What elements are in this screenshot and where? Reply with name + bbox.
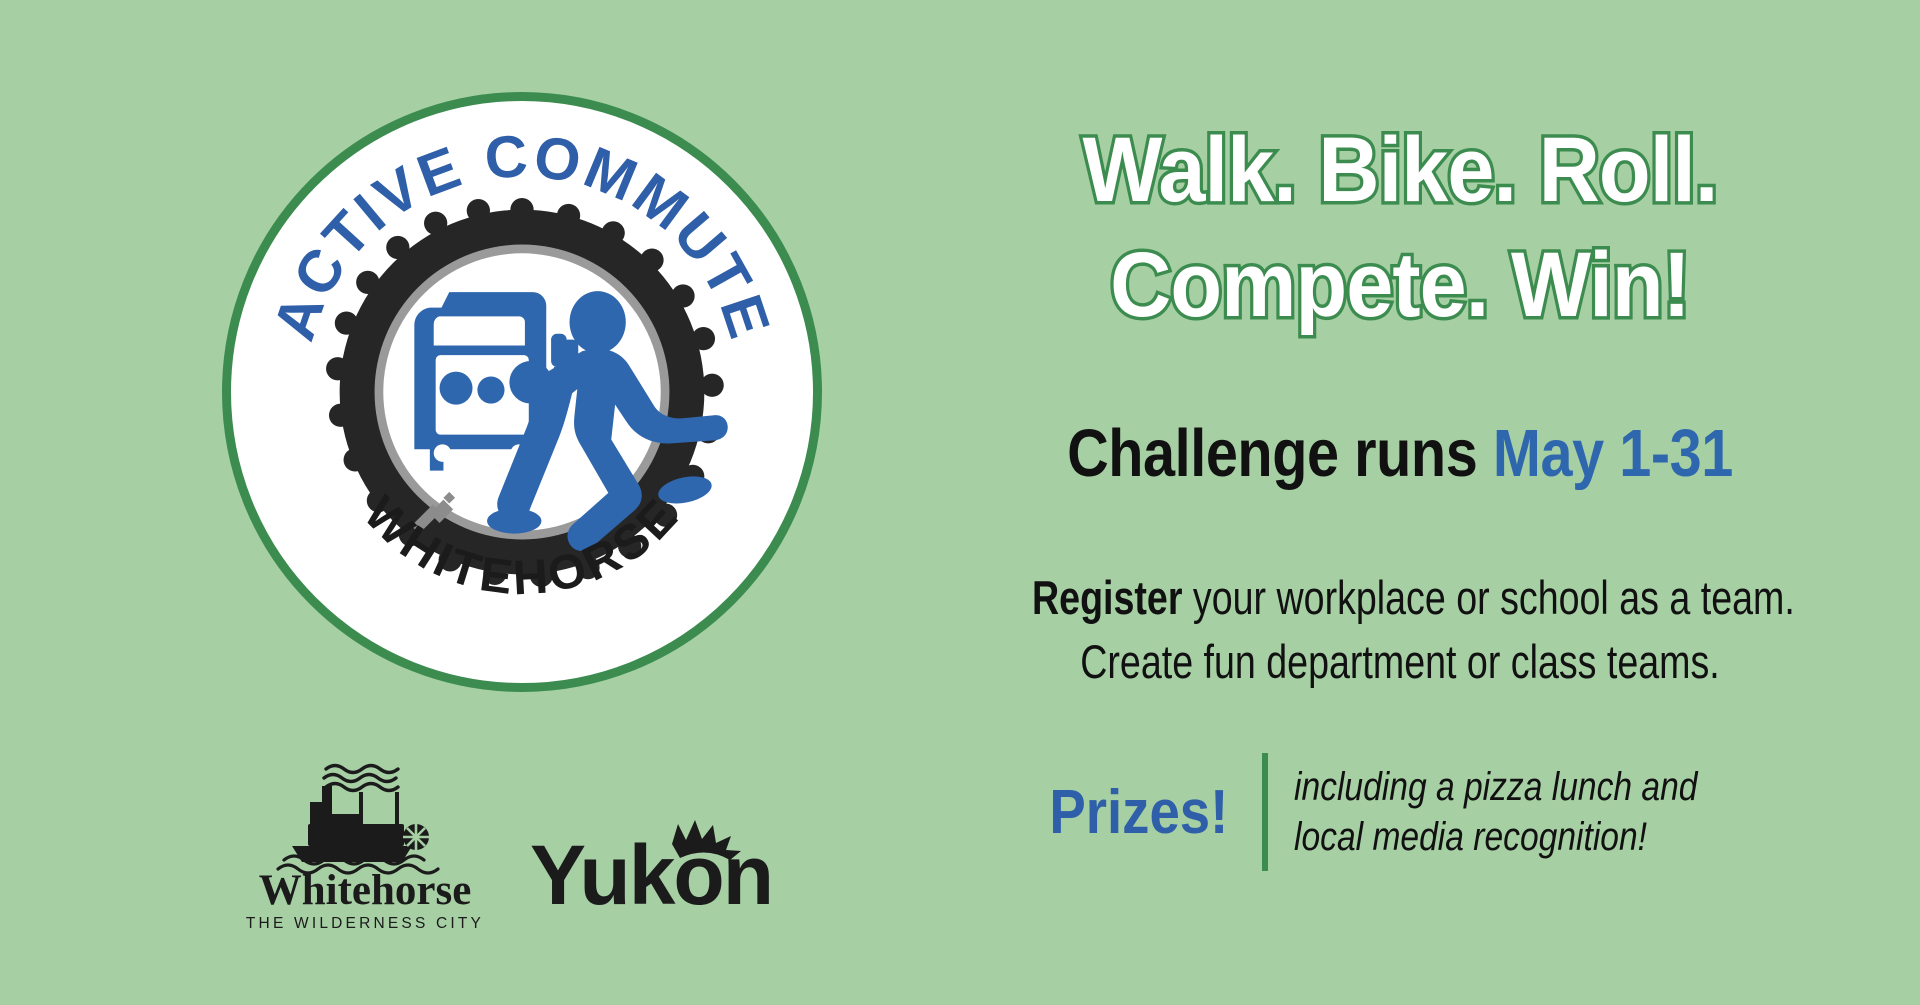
prizes-detail-line-2: local media recognition! [1294, 812, 1697, 862]
prizes-detail: including a pizza lunch and local media … [1294, 762, 1697, 863]
prizes-detail-line-1: including a pizza lunch and [1294, 762, 1697, 812]
yukon-government-logo: Yukon [520, 800, 780, 920]
body-line-2: Create fun department or class teams. [1032, 634, 1768, 689]
yukon-wordmark: Yukon [530, 828, 772, 920]
headline-line-2: Compete. Win! [977, 233, 1823, 338]
badge-graphic: ACTIVE COMMUTE WHITEHORSE [231, 101, 813, 683]
date-prefix: Challenge runs [1067, 416, 1477, 491]
right-column: Walk. Bike. Roll. Compete. Win! Challeng… [940, 0, 1920, 1005]
challenge-date-line: Challenge runs May 1-31 [1004, 415, 1795, 492]
register-emphasis: Register [1032, 571, 1182, 624]
body-line-1: Register your workplace or school as a t… [1032, 570, 1768, 625]
active-commute-badge: ACTIVE COMMUTE WHITEHORSE [222, 92, 822, 692]
prizes-block: Prizes! including a pizza lunch and loca… [940, 742, 1860, 882]
prizes-divider [1262, 753, 1268, 871]
whitehorse-tagline: THE WILDERNESS CITY [246, 915, 484, 932]
body-line-1-rest: your workplace or school as a team. [1182, 571, 1794, 624]
prizes-label: Prizes! [1050, 777, 1229, 848]
sternwheeler-boat-icon [292, 786, 429, 862]
date-range: May 1-31 [1493, 416, 1733, 491]
left-column: ACTIVE COMMUTE WHITEHORSE [0, 0, 940, 1005]
poster-canvas: ACTIVE COMMUTE WHITEHORSE [0, 0, 1920, 1005]
partner-logos: Whitehorse THE WILDERNESS CITY Yukon [220, 752, 840, 942]
yukon-logo-graphic: Yukon [520, 800, 780, 920]
whitehorse-city-logo: Whitehorse THE WILDERNESS CITY [240, 752, 490, 942]
headline-line-1: Walk. Bike. Roll. [977, 118, 1823, 223]
smoke-waves-icon [324, 766, 398, 791]
whitehorse-wordmark: Whitehorse [259, 867, 472, 914]
whitehorse-logo-graphic: Whitehorse THE WILDERNESS CITY [240, 752, 490, 942]
